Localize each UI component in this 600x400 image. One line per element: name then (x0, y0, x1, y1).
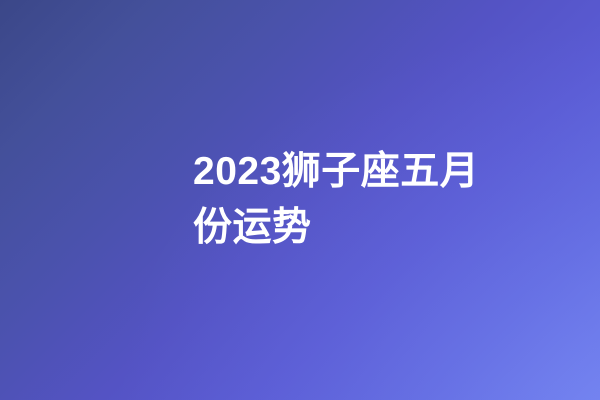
title-card: 2023狮子座五月份运势 (0, 0, 600, 400)
card-title: 2023狮子座五月份运势 (193, 144, 513, 256)
title-block: 2023狮子座五月份运势 (193, 0, 513, 400)
